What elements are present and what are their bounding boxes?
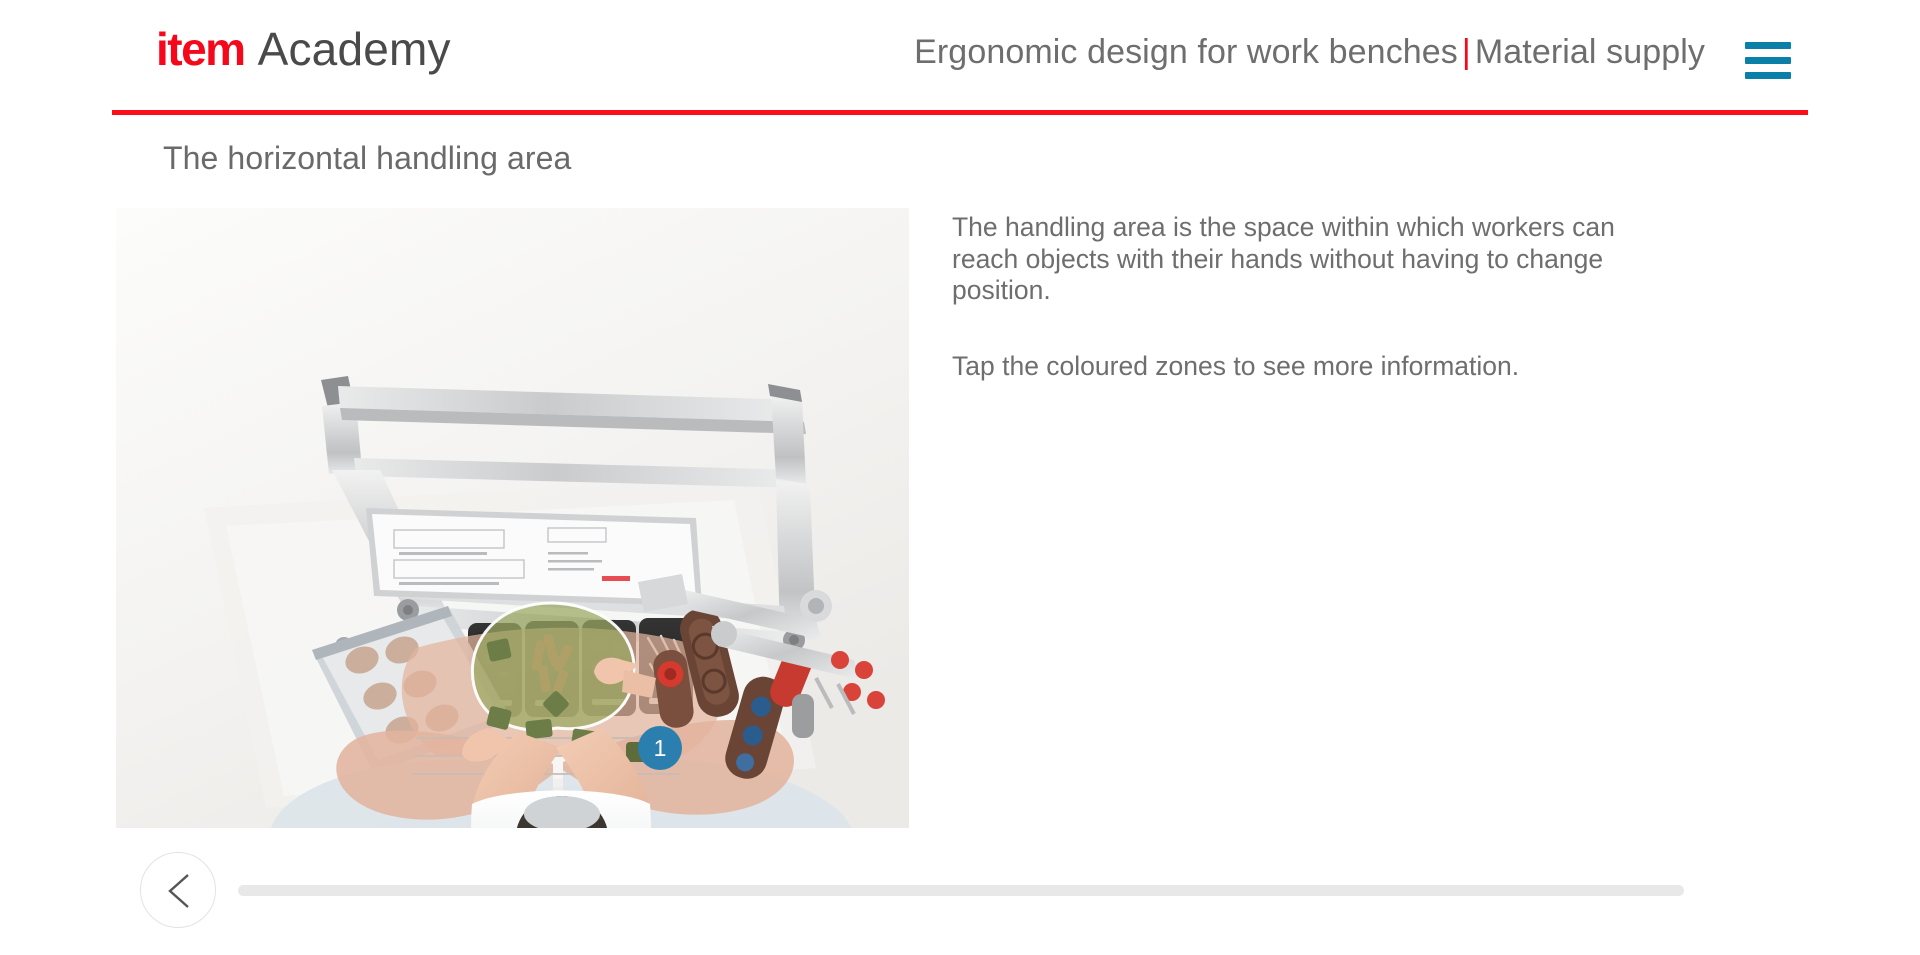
- page-header: item Academy Ergonomic design for work b…: [0, 0, 1920, 113]
- logo-academy-text: Academy: [258, 26, 451, 72]
- logo-item-text: item: [156, 26, 245, 72]
- breadcrumb-separator: |: [1458, 33, 1475, 71]
- hamburger-bar-2: [1745, 57, 1791, 64]
- progress-scrollbar[interactable]: [238, 885, 1684, 896]
- header-divider: [112, 110, 1808, 115]
- content-text: The handling area is the space within wh…: [952, 212, 1677, 382]
- hamburger-bar-3: [1745, 72, 1791, 79]
- breadcrumb: Ergonomic design for work benches|Materi…: [914, 33, 1705, 72]
- paragraph-instruction: Tap the coloured zones to see more infor…: [952, 351, 1677, 383]
- previous-button[interactable]: [140, 852, 216, 928]
- breadcrumb-module: Material supply: [1475, 33, 1705, 71]
- chevron-left-icon: [163, 871, 195, 911]
- hamburger-bar-1: [1745, 42, 1791, 49]
- hamburger-menu-icon[interactable]: [1745, 42, 1791, 78]
- brand-logo[interactable]: item Academy: [156, 26, 451, 72]
- breadcrumb-course: Ergonomic design for work benches: [914, 33, 1458, 71]
- workbench-photo: [116, 208, 909, 828]
- page-title: The horizontal handling area: [163, 140, 571, 177]
- handling-area-illustration[interactable]: 1 2 3: [116, 208, 909, 828]
- paragraph-description: The handling area is the space within wh…: [952, 212, 1677, 307]
- zone-marker-1[interactable]: 1: [638, 726, 682, 770]
